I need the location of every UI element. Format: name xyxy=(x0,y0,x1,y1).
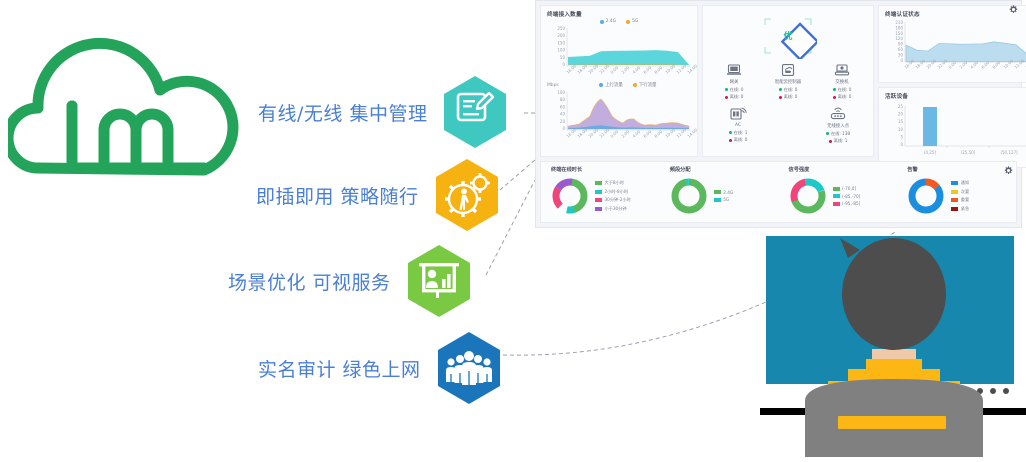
device-cell-gateway: 网关 在线: 0 离线: 0 xyxy=(707,63,761,100)
legend-item: 30分钟-2小时 xyxy=(595,197,631,203)
feature-label: 有线/无线 集中管理 xyxy=(258,99,427,126)
svg-text:60: 60 xyxy=(560,104,566,109)
chair-stripe xyxy=(838,416,946,429)
device-online-label: 在线: 1 xyxy=(734,130,748,136)
svg-text:80: 80 xyxy=(560,97,566,102)
svg-text:180: 180 xyxy=(895,25,903,30)
device-status-card: 优 网关 在线: 0 离线 xyxy=(702,5,874,157)
svg-text:250: 250 xyxy=(557,26,565,31)
svg-text:10: 10 xyxy=(898,127,904,132)
feature-row-centralized-management: 有线/无线 集中管理 xyxy=(258,74,509,150)
legend-label: 通知 xyxy=(961,180,969,186)
device-offline-label: 离线: 0 xyxy=(730,94,744,100)
svg-text:90: 90 xyxy=(898,42,904,47)
device-online: 在线: 0 xyxy=(725,87,744,93)
feature-row-scene-optimization: 场景优化 可视服务 xyxy=(228,243,473,319)
right-charts-column: 终端认证状态 210180150 1209060 300 16:00 18:00 xyxy=(878,5,1026,157)
card-title: 终端认证状态 xyxy=(885,10,1026,18)
cloud-controller-icon xyxy=(780,63,796,77)
svg-text:150: 150 xyxy=(895,31,903,36)
auth-area-chart: 210180150 1209060 300 16:00 18:00 20:00 … xyxy=(879,18,1026,80)
device-cell-wireless-ap: 无线接入点 在线: 138 离线: 1 xyxy=(811,106,865,144)
switch-icon xyxy=(834,63,850,77)
donut-legend: 通知 次要 重要 紧急 xyxy=(951,180,969,212)
svg-text:50: 50 xyxy=(560,55,566,60)
device-row-2: AC 在线: 1 离线: 0 xyxy=(703,106,873,144)
feature-label: 实名审计 绿色上网 xyxy=(258,355,421,382)
device-cell-cloud-controller: 智能云控制器 在线: 0 离线: 0 xyxy=(761,63,815,100)
legend-item: 小于30分钟 xyxy=(595,206,631,212)
legend-color-dot xyxy=(633,83,637,87)
legend-color-dot xyxy=(626,20,630,24)
legend-label: 紧急 xyxy=(961,206,969,212)
people-group-icon xyxy=(435,330,503,406)
svg-text:150: 150 xyxy=(557,40,565,45)
feature-label: 即插即用 策略随行 xyxy=(256,182,419,209)
access-area-chart: 250200150 100500 16:00 18:00 20:00 22:00… xyxy=(541,24,697,80)
svg-text:60: 60 xyxy=(898,47,904,52)
legend-item: 通知 xyxy=(951,180,969,186)
device-offline: 离线: 1 xyxy=(829,138,848,144)
legend-item: 重要 xyxy=(951,197,969,203)
feature-label: 场景优化 可视服务 xyxy=(228,268,391,295)
svg-text:5: 5 xyxy=(900,134,903,139)
alarm-donut xyxy=(905,175,947,217)
donut-legend: 大于8小时 2小时-8小时 30分钟-2小时 小于30分钟 xyxy=(595,180,631,212)
terminal-access-card: 终端接入数量 2.4G 5G 250200150 100500 xyxy=(540,5,698,157)
svg-text:20: 20 xyxy=(898,112,904,117)
quality-badge-wrap: 优 xyxy=(703,13,873,59)
person-at-monitor xyxy=(760,236,1026,457)
legend-label: 大于8小时 xyxy=(605,180,624,186)
device-offline-label: 离线: 0 xyxy=(838,94,852,100)
legend-item: 大于8小时 xyxy=(595,180,631,186)
donut-block-online-duration: 终端在线时长 大于8小时 2小时-8小时 xyxy=(541,162,660,222)
device-cell-switch: 交换机 在线: 0 离线: 0 xyxy=(815,63,869,100)
donut-block-alarm: 告警 通知 次要 重要 xyxy=(897,162,1016,222)
clm-cloud-logo xyxy=(8,18,253,213)
quality-diamond-badge: 优 xyxy=(759,13,817,59)
device-name: 智能云控制器 xyxy=(775,79,801,85)
device-offline: 离线: 0 xyxy=(729,137,748,143)
gears-person-icon xyxy=(433,157,501,233)
donut-title: 信号强度 xyxy=(789,166,898,173)
legend-label: 小于30分钟 xyxy=(605,206,627,212)
head-hair xyxy=(842,238,946,350)
band-allocation-donut xyxy=(668,175,710,217)
svg-text:(0,25]: (0,25] xyxy=(924,150,936,155)
svg-text:0: 0 xyxy=(900,58,903,63)
svg-text:100: 100 xyxy=(557,90,565,95)
device-cell-ac: AC 在线: 1 离线: 0 xyxy=(711,106,765,144)
device-offline-label: 离线: 1 xyxy=(834,138,848,144)
legend-label: 次要 xyxy=(961,189,969,195)
legend-item: (-95,-85] xyxy=(833,201,861,206)
legend-item: 2小时-8小时 xyxy=(595,189,631,195)
online-duration-donut xyxy=(549,175,591,217)
presentation-chart-icon xyxy=(405,243,473,319)
active-devices-card: 活跃设备 252015 1050 (0,25] (25,5 xyxy=(878,87,1026,168)
device-online: 在线: 1 xyxy=(729,130,748,136)
legend-item: 次要 xyxy=(951,189,969,195)
legend-item: 紧急 xyxy=(951,206,969,212)
legend-label: (-95,-85] xyxy=(842,201,860,206)
wireless-ap-icon xyxy=(829,106,847,121)
device-offline-label: 离线: 0 xyxy=(784,94,798,100)
device-name: 网关 xyxy=(730,79,739,85)
legend-label: 2小时-8小时 xyxy=(605,189,629,195)
donut-title: 告警 xyxy=(907,166,1016,173)
svg-text:0: 0 xyxy=(562,126,565,131)
donut-block-signal-strength: 信号强度 (-70,0] (-85,-70] xyxy=(779,162,898,222)
svg-text:(25,50]: (25,50] xyxy=(961,150,976,155)
svg-text:20: 20 xyxy=(560,119,566,124)
device-online-label: 在线: 0 xyxy=(784,87,798,93)
svg-text:(50,127]: (50,127] xyxy=(1000,150,1018,155)
ac-controller-icon xyxy=(729,106,747,121)
gateway-icon xyxy=(726,63,742,77)
legend-item: 2.4G xyxy=(714,190,733,195)
device-offline: 离线: 0 xyxy=(833,94,852,100)
network-dashboard: 终端接入数量 2.4G 5G 250200150 100500 xyxy=(535,0,1022,228)
donut-block-band-allocation: 频段分配 2.4G 5G xyxy=(660,162,779,222)
card-title: 活跃设备 xyxy=(885,92,1026,100)
device-offline: 离线: 0 xyxy=(725,94,744,100)
auth-status-card: 终端认证状态 210180150 1209060 300 16:00 18:00 xyxy=(878,5,1026,83)
active-devices-bar-chart: 252015 1050 (0,25] (25,50] (50,127] xyxy=(879,100,1026,162)
device-name: AC xyxy=(735,123,741,128)
device-row-1: 网关 在线: 0 离线: 0 智 xyxy=(703,63,873,100)
monitor-dots xyxy=(977,388,1009,394)
svg-text:40: 40 xyxy=(560,112,566,117)
device-online: 在线: 0 xyxy=(833,87,852,93)
legend-label: (-70,0] xyxy=(842,186,856,191)
legend-color-dot xyxy=(600,20,604,24)
feature-row-plug-and-play: 即插即用 策略随行 xyxy=(256,157,501,233)
device-offline-label: 离线: 0 xyxy=(734,137,748,143)
device-online: 在线: 138 xyxy=(826,131,850,137)
donut-title: 终端在线时长 xyxy=(551,166,660,173)
device-offline: 离线: 0 xyxy=(779,94,798,100)
svg-text:0: 0 xyxy=(900,142,903,147)
device-online: 在线: 0 xyxy=(779,87,798,93)
legend-label: 5G xyxy=(723,197,729,202)
document-pen-icon xyxy=(441,74,509,150)
device-name: 交换机 xyxy=(835,79,848,85)
svg-text:25: 25 xyxy=(898,104,904,109)
svg-text:200: 200 xyxy=(557,33,565,38)
traffic-area-chart: 1008060 40200 16:00 18:00 20:00 22:00 0:… xyxy=(541,88,697,144)
svg-text:15: 15 xyxy=(898,119,904,124)
gear-icon[interactable] xyxy=(1004,166,1011,173)
donut-legend: 2.4G 5G xyxy=(714,190,733,203)
donut-summary-strip: 终端在线时长 大于8小时 2小时-8小时 xyxy=(540,161,1017,223)
legend-color-dot xyxy=(599,83,603,87)
svg-text:30: 30 xyxy=(898,52,904,57)
device-name: 无线接入点 xyxy=(827,123,849,129)
device-online-label: 在线: 138 xyxy=(831,131,850,137)
donut-title: 频段分配 xyxy=(670,166,779,173)
traffic-unit-label: Mbps xyxy=(547,83,559,88)
svg-text:100: 100 xyxy=(557,48,565,53)
feature-row-real-name-audit: 实名审计 绿色上网 xyxy=(258,330,503,406)
legend-item: 5G xyxy=(714,197,733,202)
device-online-label: 在线: 0 xyxy=(730,87,744,93)
legend-item: (-85,-70] xyxy=(833,194,861,199)
legend-label: 30分钟-2小时 xyxy=(605,197,631,203)
donut-legend: (-70,0] (-85,-70] (-95,-85] xyxy=(833,186,861,206)
svg-text:120: 120 xyxy=(895,36,903,41)
device-online-label: 在线: 0 xyxy=(838,87,852,93)
legend-item: (-70,0] xyxy=(833,186,861,191)
legend-label: 重要 xyxy=(961,197,969,203)
signal-strength-donut xyxy=(787,175,829,217)
bar-0 xyxy=(923,107,937,146)
card-title: 终端接入数量 xyxy=(547,10,697,18)
quality-badge-text: 优 xyxy=(783,30,792,42)
legend-label: (-85,-70] xyxy=(842,194,860,199)
gear-icon[interactable] xyxy=(1009,5,1016,12)
svg-text:0: 0 xyxy=(562,62,565,67)
svg-text:210: 210 xyxy=(895,20,903,25)
legend-label: 2.4G xyxy=(723,190,733,195)
